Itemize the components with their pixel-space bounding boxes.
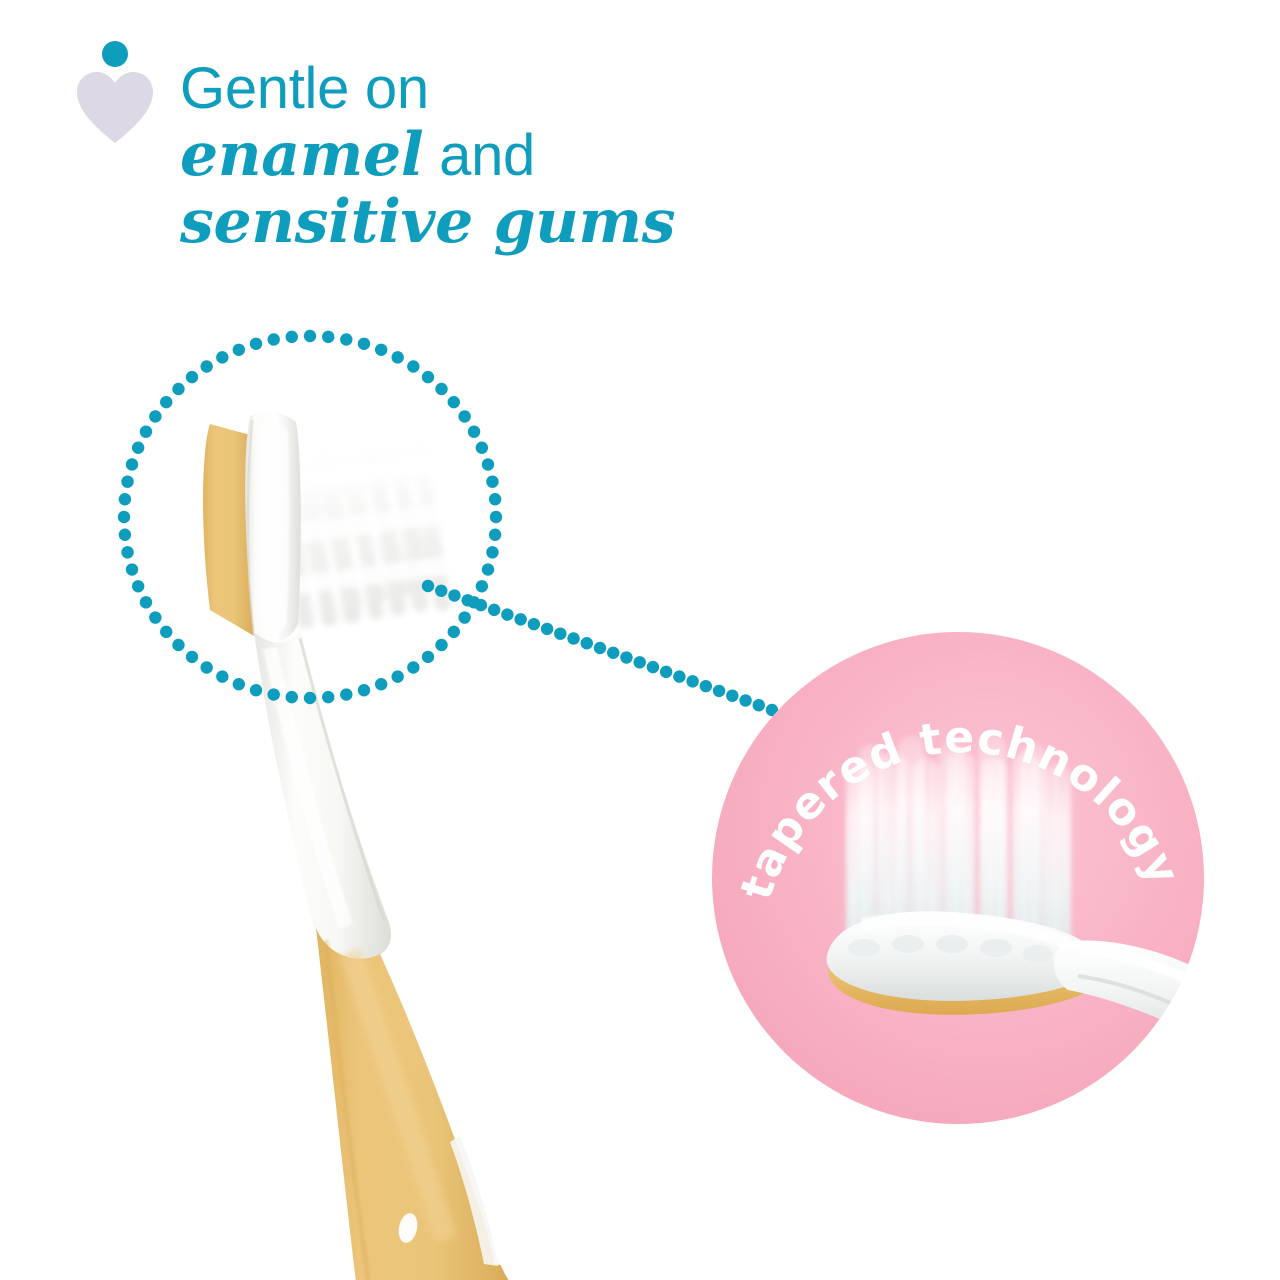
headline-line-2: enamel and bbox=[180, 122, 880, 190]
brush-head bbox=[203, 412, 301, 643]
toothbrush-product-image bbox=[150, 380, 670, 1280]
heart-icon-body bbox=[77, 72, 153, 143]
brush-head-zoom-circle bbox=[115, 328, 505, 706]
brush-grip bbox=[316, 928, 510, 1280]
headline-line-2-text: and bbox=[423, 123, 535, 188]
badge-arc-text: tapered technology bbox=[712, 632, 1204, 1124]
headline-line-3-emphasis: sensitive gums bbox=[180, 187, 675, 257]
headline-line-2-emphasis: enamel bbox=[180, 120, 423, 190]
heart-icon-head-dot bbox=[102, 41, 128, 67]
badge-caption: tapered technology bbox=[731, 712, 1190, 905]
svg-text:tapered technology: tapered technology bbox=[731, 712, 1190, 905]
marketing-image-canvas: tapered technology Gentle on enamel and … bbox=[0, 0, 1280, 1280]
bristles-main bbox=[240, 380, 454, 637]
headline-line-3: sensitive gums bbox=[180, 189, 880, 257]
headline-text: Gentle on enamel and sensitive gums bbox=[180, 56, 880, 257]
brush-neck bbox=[254, 628, 391, 961]
headline-line-1-text: Gentle on bbox=[180, 56, 429, 121]
headline-line-1: Gentle on bbox=[180, 56, 880, 122]
tapered-technology-badge: tapered technology bbox=[712, 632, 1204, 1124]
heart-person-icon bbox=[75, 38, 155, 148]
